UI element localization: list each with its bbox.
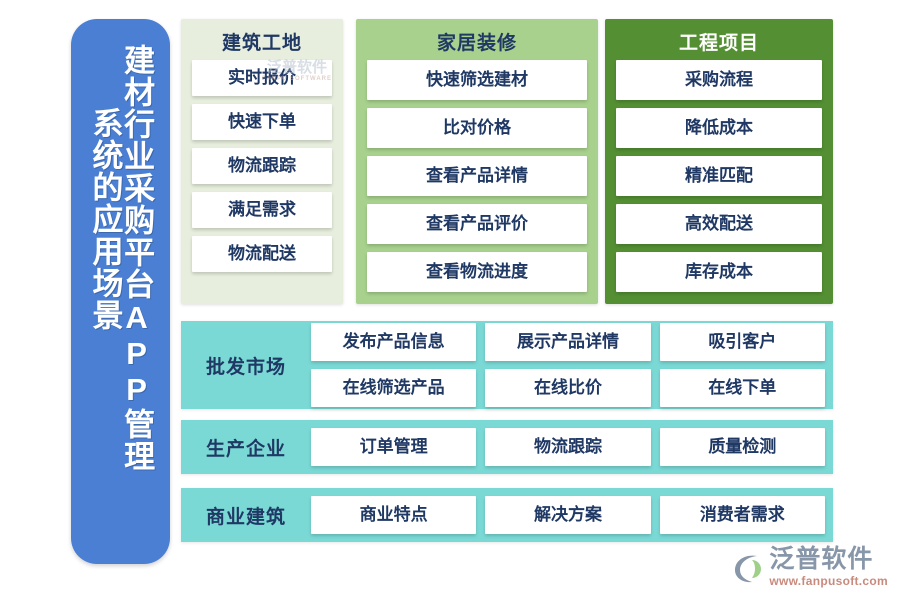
infographic-canvas: 建材行业采购平台APP管理 系统的应用场景 建筑工地 实时报价 快速下单 物流跟… bbox=[0, 0, 900, 600]
fanpu-logo-icon bbox=[731, 551, 765, 585]
band-item[interactable]: 吸引客户 bbox=[660, 323, 825, 361]
panel-item[interactable]: 查看产品详情 bbox=[367, 156, 587, 196]
panel-item[interactable]: 降低成本 bbox=[616, 108, 822, 148]
band-item[interactable]: 展示产品详情 bbox=[485, 323, 650, 361]
page-title-sub: 系统的应用场景 bbox=[89, 107, 121, 331]
band-item[interactable]: 商业特点 bbox=[311, 496, 476, 534]
panel-item[interactable]: 高效配送 bbox=[616, 204, 822, 244]
band-label: 批发市场 bbox=[181, 352, 311, 379]
panel-item[interactable]: 快速下单 bbox=[192, 104, 332, 140]
panel-item[interactable]: 比对价格 bbox=[367, 108, 587, 148]
band-item[interactable]: 在线比价 bbox=[485, 369, 650, 407]
band-item[interactable]: 在线下单 bbox=[660, 369, 825, 407]
band-item[interactable]: 消费者需求 bbox=[660, 496, 825, 534]
panel-item[interactable]: 精准匹配 bbox=[616, 156, 822, 196]
band-item-list: 发布产品信息 展示产品详情 吸引客户 在线筛选产品 在线比价 在线下单 bbox=[311, 323, 833, 407]
panel-item[interactable]: 采购流程 bbox=[616, 60, 822, 100]
panel-item[interactable]: 快速筛选建材 bbox=[367, 60, 587, 100]
band-item-list: 订单管理 物流跟踪 质量检测 bbox=[311, 428, 833, 466]
panel-engineering-project: 工程项目 采购流程 降低成本 精准匹配 高效配送 库存成本 bbox=[605, 19, 833, 304]
panel-item[interactable]: 物流跟踪 bbox=[192, 148, 332, 184]
band-item[interactable]: 发布产品信息 bbox=[311, 323, 476, 361]
panel-item[interactable]: 实时报价 bbox=[192, 60, 332, 96]
band-item[interactable]: 在线筛选产品 bbox=[311, 369, 476, 407]
logo-url: www.fanpusoft.com bbox=[769, 574, 888, 588]
band-label: 生产企业 bbox=[181, 434, 311, 461]
band-item[interactable]: 质量检测 bbox=[660, 428, 825, 466]
panel-item-list: 采购流程 降低成本 精准匹配 高效配送 库存成本 bbox=[605, 60, 833, 310]
band-item-list: 商业特点 解决方案 消费者需求 bbox=[311, 496, 833, 534]
panel-item[interactable]: 查看产品评价 bbox=[367, 204, 587, 244]
band-item[interactable]: 解决方案 bbox=[485, 496, 650, 534]
panel-title: 家居装修 bbox=[356, 19, 598, 60]
logo-name: 泛普软件 bbox=[769, 547, 873, 572]
panel-item[interactable]: 物流配送 bbox=[192, 236, 332, 272]
panel-item-list: 快速筛选建材 比对价格 查看产品详情 查看产品评价 查看物流进度 bbox=[356, 60, 598, 310]
band-item[interactable]: 物流跟踪 bbox=[485, 428, 650, 466]
panel-home-decoration: 家居装修 快速筛选建材 比对价格 查看产品详情 查看产品评价 查看物流进度 bbox=[356, 19, 598, 304]
brand-logo: 泛普软件 www.fanpusoft.com bbox=[731, 547, 888, 588]
band-manufacturing-enterprise: 生产企业 订单管理 物流跟踪 质量检测 bbox=[181, 420, 833, 474]
band-wholesale-market: 批发市场 发布产品信息 展示产品详情 吸引客户 在线筛选产品 在线比价 在线下单 bbox=[181, 321, 833, 409]
page-title-main: 建材行业采购平台APP管理 bbox=[121, 44, 153, 472]
panel-title: 建筑工地 bbox=[181, 19, 343, 60]
panel-item-list: 实时报价 快速下单 物流跟踪 满足需求 物流配送 bbox=[181, 60, 343, 290]
panel-title: 工程项目 bbox=[605, 19, 833, 60]
panel-construction-site: 建筑工地 实时报价 快速下单 物流跟踪 满足需求 物流配送 bbox=[181, 19, 343, 304]
band-label: 商业建筑 bbox=[181, 502, 311, 529]
band-item[interactable]: 订单管理 bbox=[311, 428, 476, 466]
panel-item[interactable]: 满足需求 bbox=[192, 192, 332, 228]
panel-item[interactable]: 查看物流进度 bbox=[367, 252, 587, 292]
vertical-title-bar: 建材行业采购平台APP管理 系统的应用场景 bbox=[71, 19, 170, 564]
panel-item[interactable]: 库存成本 bbox=[616, 252, 822, 292]
band-commercial-building: 商业建筑 商业特点 解决方案 消费者需求 bbox=[181, 488, 833, 542]
